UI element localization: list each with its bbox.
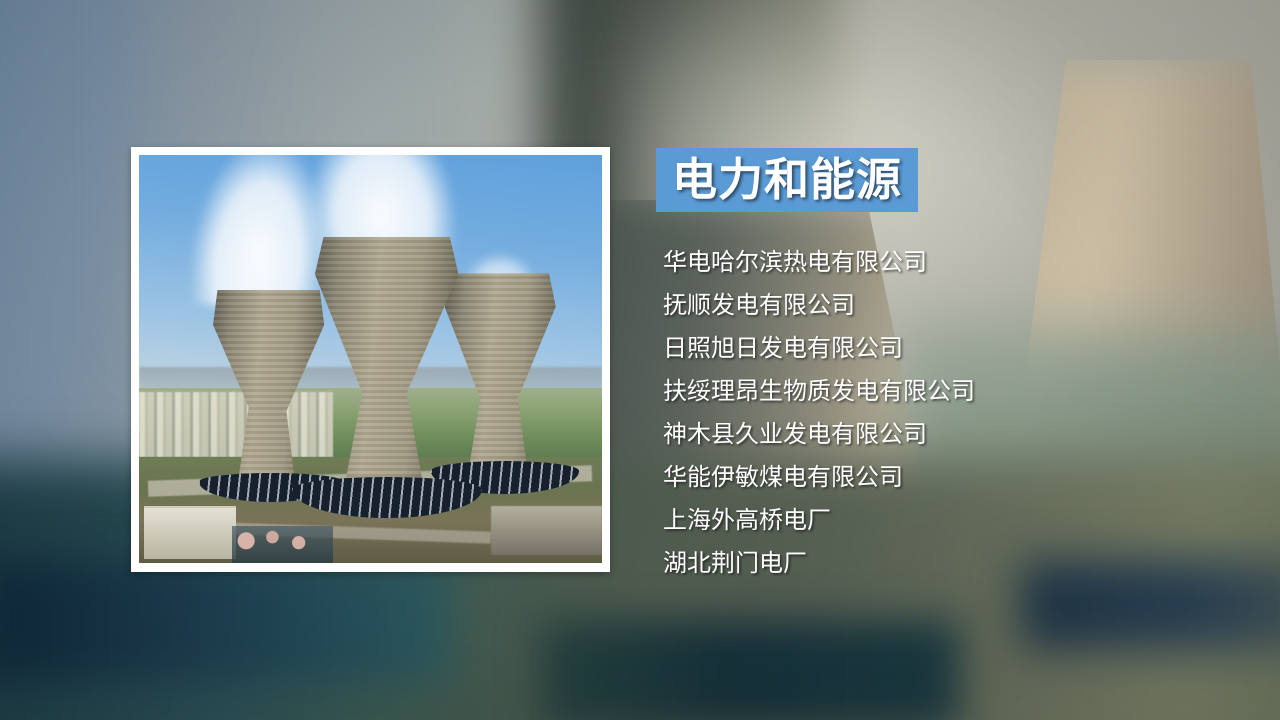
list-item: 抚顺发电有限公司 [663,284,1183,327]
list-item: 华能伊敏煤电有限公司 [663,456,1183,499]
company-list: 华电哈尔滨热电有限公司 抚顺发电有限公司 日照旭日发电有限公司 扶绥理昂生物质发… [663,241,1183,585]
photo-service-buildings [144,506,237,559]
list-item: 扶绥理昂生物质发电有限公司 [663,370,1183,413]
list-item: 华电哈尔滨热电有限公司 [663,241,1183,284]
photo-city-buildings [139,392,333,457]
list-item: 上海外高桥电厂 [663,499,1183,542]
photo-plant-structures-right [491,506,602,555]
photo-storage-tanks [232,526,334,563]
page-title: 电力和能源 [672,158,902,203]
power-plant-photo [139,155,602,563]
slide-canvas: 电力和能源 华电哈尔滨热电有限公司 抚顺发电有限公司 日照旭日发电有限公司 扶绥… [0,0,1280,720]
list-item: 日照旭日发电有限公司 [663,327,1183,370]
list-item: 神木县久业发电有限公司 [663,413,1183,456]
list-item: 湖北荆门电厂 [663,542,1183,585]
power-plant-photo-frame [131,147,610,572]
slide-title-band: 电力和能源 [656,148,918,212]
